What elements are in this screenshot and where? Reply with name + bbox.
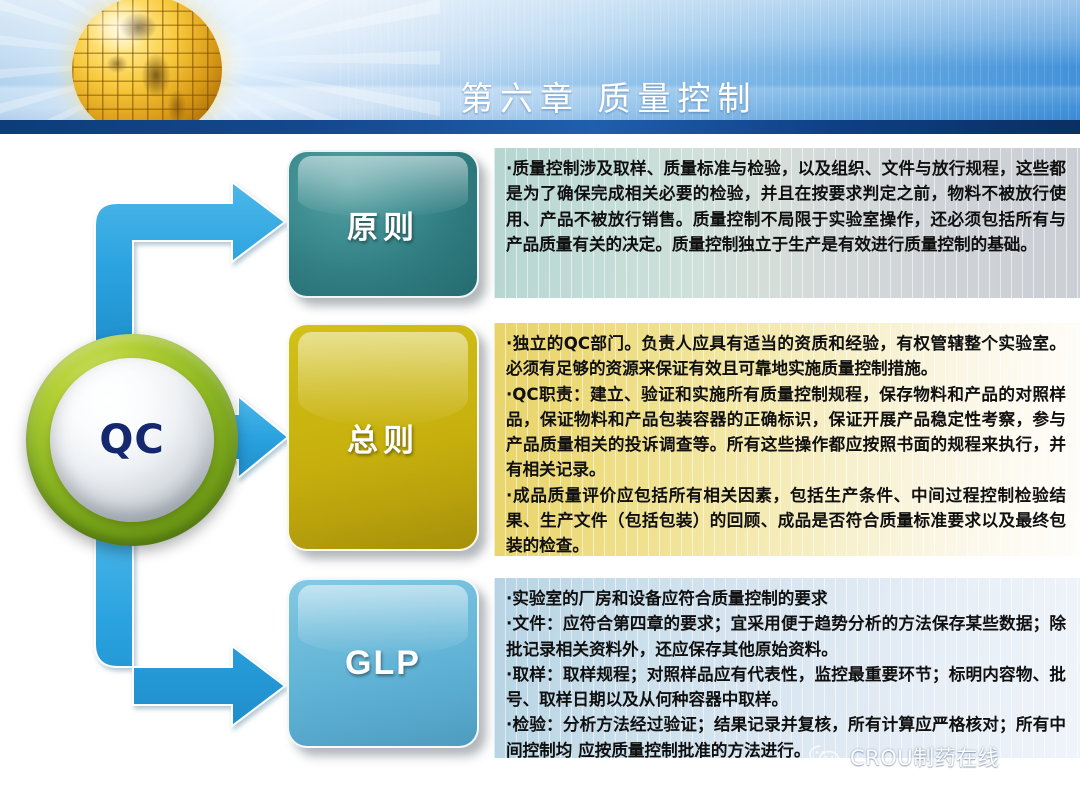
- paragraph: ·质量控制涉及取样、质量标准与检验，以及组织、文件与放行规程，这些都是为了确保完…: [506, 156, 1066, 257]
- paragraph: ·检验：分析方法经过验证；结果记录并复核，所有计算应严格核对；所有中间控制均 应…: [506, 712, 1066, 758]
- content-panel-general: ·独立的QC部门。负责人应具有适当的资质和经验，有权管辖整个实验室。必须有足够的…: [494, 323, 1080, 556]
- paragraph: ·成品质量评价应包括所有相关因素，包括生产条件、中间过程控制检验结果、生产文件（…: [506, 483, 1066, 556]
- content-panel-glp: ·实验室的厂房和设备应符合质量控制的要求 ·文件：应符合第四章的要求；宜采用便于…: [494, 578, 1080, 758]
- arrow-to-glp: [95, 520, 285, 726]
- category-box-glp[interactable]: GLP: [287, 578, 479, 748]
- slide-canvas: 第六章 质量控制 QC 原则: [0, 0, 1080, 810]
- page-title: 第六章 质量控制: [460, 72, 880, 120]
- globe-highlight: [72, 0, 222, 134]
- panel-text-glp: ·实验室的厂房和设备应符合质量控制的要求 ·文件：应符合第四章的要求；宜采用便于…: [506, 586, 1066, 758]
- qc-hub-sphere: QC: [50, 358, 214, 522]
- category-label-glp: GLP: [345, 644, 421, 683]
- box-gloss-highlight: [298, 332, 467, 426]
- panel-text-principle: ·质量控制涉及取样、质量标准与检验，以及组织、文件与放行规程，这些都是为了确保完…: [506, 156, 1066, 257]
- paragraph: ·文件：应符合第四章的要求；宜采用便于趋势分析的方法保存某些数据；除批记录相关资…: [506, 611, 1066, 662]
- panel-text-general: ·独立的QC部门。负责人应具有适当的资质和经验，有权管辖整个实验室。必须有足够的…: [506, 331, 1066, 556]
- category-label-general: 总则: [347, 415, 419, 460]
- paragraph: ·QC职责：建立、验证和实施所有质量控制规程，保存物料和产品的对照样品，保证物料…: [506, 382, 1066, 483]
- category-box-general[interactable]: 总则: [287, 323, 479, 551]
- header-banner: 第六章 质量控制: [0, 0, 1080, 134]
- qc-hub-node[interactable]: QC: [26, 334, 238, 546]
- category-box-principle[interactable]: 原则: [287, 150, 479, 298]
- paragraph: ·取样：取样规程；对照样品应有代表性，监控最重要环节；标明内容物、批号、取样日期…: [506, 662, 1066, 713]
- paragraph: ·独立的QC部门。负责人应具有适当的资质和经验，有权管辖整个实验室。必须有足够的…: [506, 331, 1066, 382]
- content-panel-principle: ·质量控制涉及取样、质量标准与检验，以及组织、文件与放行规程，这些都是为了确保完…: [494, 148, 1080, 298]
- banner-bottom-bar: [0, 120, 1080, 134]
- paragraph: ·实验室的厂房和设备应符合质量控制的要求: [506, 586, 1066, 611]
- category-label-principle: 原则: [347, 202, 419, 247]
- globe-icon: [72, 0, 222, 134]
- arrow-to-principle: [95, 182, 285, 358]
- qc-hub-label: QC: [99, 417, 164, 463]
